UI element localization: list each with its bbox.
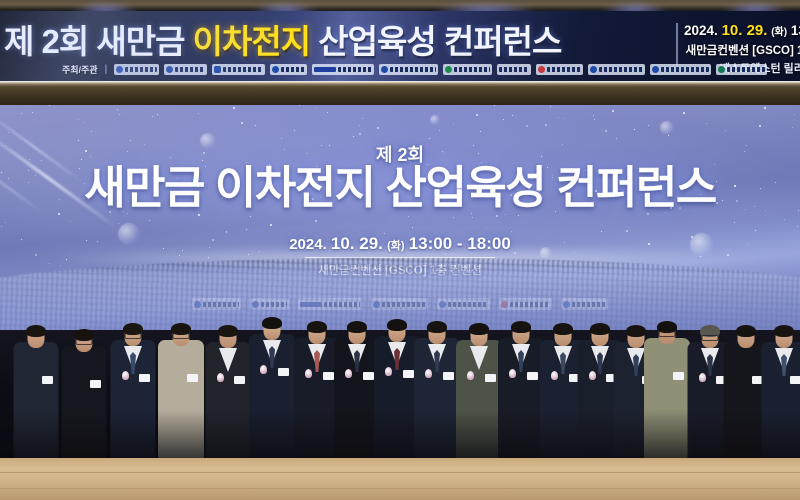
banner-venue: 새만금컨벤션 [GSCO] 1층 <box>684 42 800 58</box>
sponsor-logo-icon <box>716 64 767 75</box>
sponsor-logo-icon <box>164 64 207 75</box>
attendee-person <box>56 329 112 475</box>
banner-date-line: 2024. 10. 29. (화) 13:00 <box>684 22 800 40</box>
sponsor-logo-icon <box>650 64 711 75</box>
sponsor-logo-icon <box>114 64 159 75</box>
screen-main-title: 새만금 이차전지 산업육성 컨퍼런스 <box>0 163 800 213</box>
attendee-corsage-icon <box>589 371 596 380</box>
sponsor-logo-icon <box>212 64 265 75</box>
banner-title-post: 산업육성 컨퍼런스 <box>310 23 561 60</box>
attendee-name-badge <box>790 376 800 384</box>
attendee-hair <box>347 321 367 333</box>
overhead-event-banner: 제 2회 새만금 이차전지 산업육성 컨퍼런스 2024. 10. 29. (화… <box>0 11 800 81</box>
group-of-attendees <box>0 300 800 475</box>
banner-divider <box>676 23 678 65</box>
sponsor-logo-icon <box>379 64 438 75</box>
attendee-person <box>756 325 800 475</box>
attendee-corsage-icon <box>425 369 432 378</box>
attendee-torso <box>158 340 204 475</box>
attendee-glasses-icon <box>702 335 719 341</box>
led-backdrop-screen: 제 2회 새만금 이차전지 산업육성 컨퍼런스 2024. 10. 29. (화… <box>0 105 800 330</box>
attendee-corsage-icon <box>467 371 474 380</box>
banner-date-day: (화) <box>771 27 787 38</box>
bokeh-orb-icon <box>430 115 440 125</box>
attendee-corsage-icon <box>699 373 706 382</box>
attendee-name-badge <box>139 374 150 382</box>
sponsor-logo-icon <box>536 64 583 75</box>
attendee-corsage-icon <box>305 369 312 378</box>
sponsor-separator: | <box>105 64 108 75</box>
banner-title: 제 2회 새만금 이차전지 산업육성 컨퍼런스 <box>4 25 561 58</box>
attendee-glasses-icon <box>76 339 93 345</box>
sponsor-logo-icon <box>497 64 531 75</box>
attendee-glasses-icon <box>173 333 190 339</box>
attendee-hair <box>427 321 447 333</box>
attendee-torso <box>14 342 59 475</box>
attendee-corsage-icon <box>551 371 558 380</box>
sponsor-logo-icon <box>443 64 492 75</box>
attendee-hair <box>26 325 46 337</box>
attendee-glasses-icon <box>659 331 676 337</box>
banner-date-time: 13:00 <box>791 23 800 38</box>
attendee-hair <box>590 323 610 335</box>
attendee-corsage-icon <box>385 367 392 376</box>
attendee-hair <box>553 323 573 335</box>
banner-date-md: 10. 29. <box>722 22 768 39</box>
attendee-corsage-icon <box>345 369 352 378</box>
sponsor-logo-jbitp-icon <box>312 64 374 75</box>
attendee-hair <box>387 319 407 331</box>
attendee-glasses-icon <box>125 333 142 339</box>
attendee-hair <box>736 325 756 337</box>
banner-date-year: 2024. <box>684 23 718 38</box>
sponsor-logo-icon <box>270 64 307 75</box>
attendee-corsage-icon <box>509 369 516 378</box>
banner-sponsor-row: 주최/주관 | <box>0 61 800 77</box>
attendee-corsage-icon <box>217 373 224 382</box>
bokeh-orb-icon <box>660 121 674 135</box>
attendee-torso <box>62 346 107 475</box>
attendee-name-badge <box>42 376 53 384</box>
attendee-name-badge <box>90 380 101 388</box>
attendee-hair <box>511 321 531 333</box>
attendee-hair <box>469 323 489 335</box>
sponsor-label: 주최/주관 <box>62 63 98 76</box>
banner-title-pre: 제 2회 새만금 <box>4 23 193 60</box>
attendee-hair <box>218 325 238 337</box>
sponsor-logo-icon <box>588 64 645 75</box>
attendee-hair <box>262 317 282 329</box>
wall-band <box>0 81 800 107</box>
attendee-corsage-icon <box>260 365 267 374</box>
conference-photo-scene: 제 2회 새만금 이차전지 산업육성 컨퍼런스 2024. 10. 29. (화… <box>0 0 800 500</box>
attendee-hair <box>774 325 794 337</box>
attendee-hair <box>307 321 327 333</box>
stage-floor <box>0 458 800 500</box>
attendee-name-badge <box>187 374 198 382</box>
attendee-corsage-icon <box>122 371 129 380</box>
banner-title-highlight: 이차전지 <box>193 23 310 60</box>
